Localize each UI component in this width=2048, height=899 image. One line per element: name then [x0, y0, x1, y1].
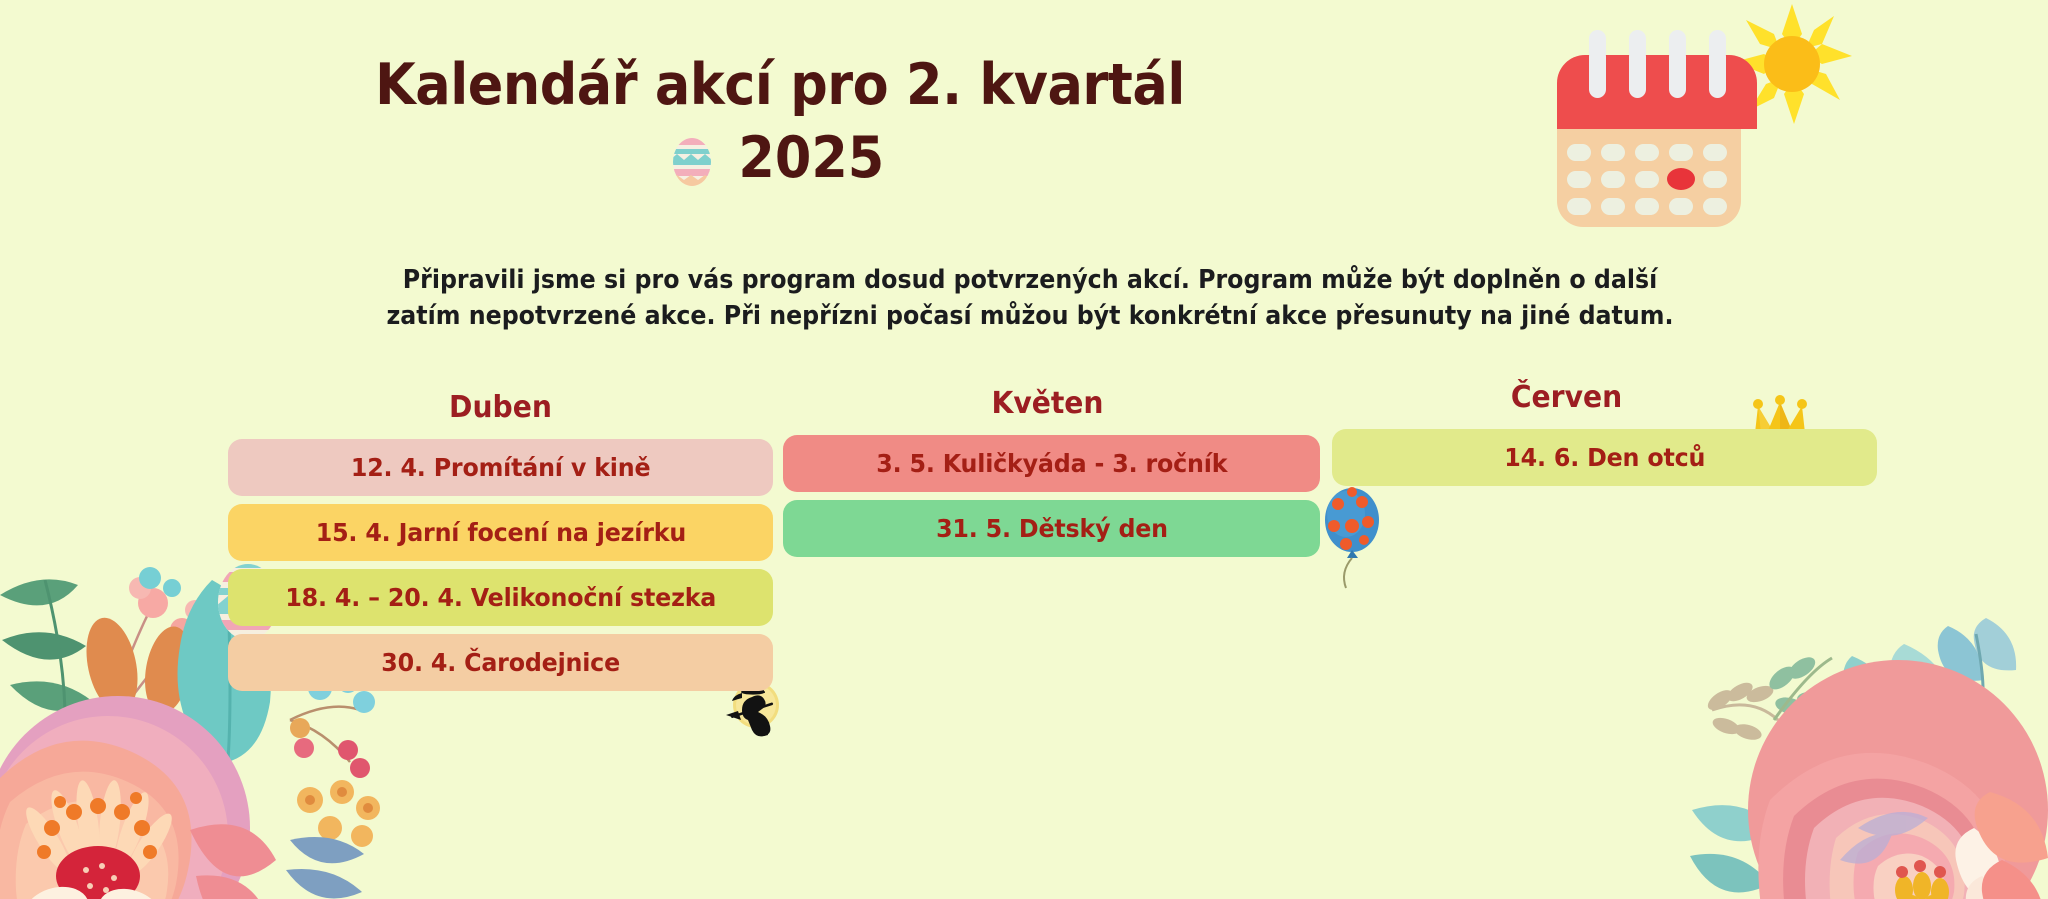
event-label: 30. 4. Čarodejnice — [381, 648, 620, 677]
months-grid: Duben 12. 4. Promítání v kině 15. 4. Jar… — [0, 390, 2048, 790]
event-label: 12. 4. Promítání v kině — [351, 453, 651, 482]
event-pill[interactable]: 18. 4. – 20. 4. Velikonoční stezka — [228, 569, 773, 626]
event-calendar-poster: Kalendář akcí pro 2. kvartál 2025 Připra… — [0, 0, 2048, 899]
event-pill[interactable]: 31. 5. Dětský den — [783, 500, 1320, 557]
month-column-duben: Duben 12. 4. Promítání v kině 15. 4. Jar… — [228, 390, 773, 699]
intro-paragraph: Připravili jsme si pro vás program dosud… — [379, 262, 1681, 334]
month-heading-duben: Duben — [244, 390, 756, 425]
event-pill[interactable]: 15. 4. Jarní focení na jezírku — [228, 504, 773, 561]
event-label: 15. 4. Jarní focení na jezírku — [315, 518, 685, 547]
event-label: 14. 6. Den otců — [1504, 443, 1705, 472]
event-pill[interactable]: 12. 4. Promítání v kině — [228, 439, 773, 496]
event-label: 18. 4. – 20. 4. Velikonoční stezka — [285, 583, 716, 612]
event-pill[interactable]: 3. 5. Kuličkyáda - 3. ročník — [783, 435, 1320, 492]
month-heading-kveten: Květen — [795, 386, 1300, 421]
event-label: 3. 5. Kuličkyáda - 3. ročník — [876, 449, 1227, 478]
calendar-icon — [1541, 8, 1773, 240]
poster-header: Kalendář akcí pro 2. kvartál 2025 — [0, 52, 1560, 191]
page-title: Kalendář akcí pro 2. kvartál — [62, 52, 1497, 119]
page-title-year: 2025 — [738, 125, 884, 191]
month-column-kveten: Květen 3. 5. Kuličkyáda - 3. ročník 31. … — [783, 386, 1320, 565]
sun-icon — [1732, 4, 1852, 124]
event-pill[interactable]: 14. 6. Den otců — [1332, 429, 1877, 486]
title-year-row: 2025 — [0, 125, 1560, 191]
event-label: 31. 5. Dětský den — [936, 514, 1168, 543]
event-pill[interactable]: 30. 4. Čarodejnice — [228, 634, 773, 691]
month-heading-cerven: Červen — [1310, 380, 1822, 415]
month-column-cerven: Červen 14. 6. Den otců — [1332, 380, 1877, 494]
easter-egg-icon — [670, 129, 714, 187]
